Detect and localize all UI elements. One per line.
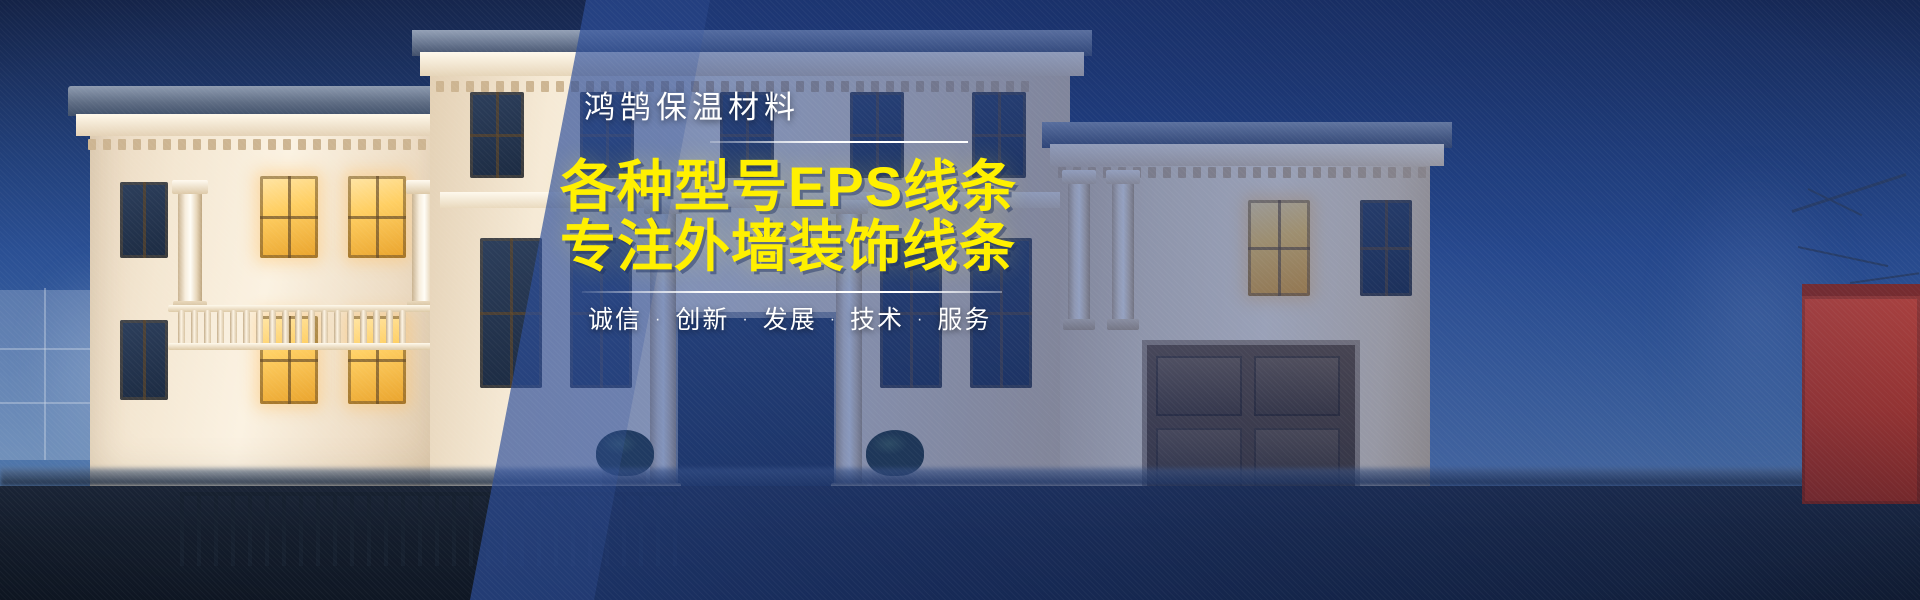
tagline: 诚信 · 创新 · 发展 · 技术 · 服务 <box>560 308 1320 333</box>
banner-copy: 鸿鹄保温材料 各种型号EPS线条 专注外墙装饰线条 诚信 · 创新 · 发展 ·… <box>560 92 1320 333</box>
tagline-item-2: 发展 <box>763 308 817 333</box>
divider-top <box>710 141 968 143</box>
headline-line-1: 各种型号EPS线条 <box>560 157 1320 217</box>
tagline-item-1: 创新 <box>675 308 729 333</box>
divider-bottom <box>582 291 1002 293</box>
tagline-separator: · <box>742 312 749 328</box>
tagline-item-4: 服务 <box>937 308 991 333</box>
headline: 各种型号EPS线条 专注外墙装饰线条 <box>560 157 1320 277</box>
hero-banner: 鸿鹄保温材料 各种型号EPS线条 专注外墙装饰线条 诚信 · 创新 · 发展 ·… <box>0 0 1920 600</box>
tagline-separator: · <box>830 312 837 328</box>
brand-name: 鸿鹄保温材料 <box>560 92 1320 123</box>
tagline-item-3: 技术 <box>850 308 904 333</box>
tagline-item-0: 诚信 <box>588 308 642 333</box>
tagline-separator: · <box>917 312 924 328</box>
tagline-separator: · <box>655 312 662 328</box>
headline-line-2: 专注外墙装饰线条 <box>560 217 1320 277</box>
